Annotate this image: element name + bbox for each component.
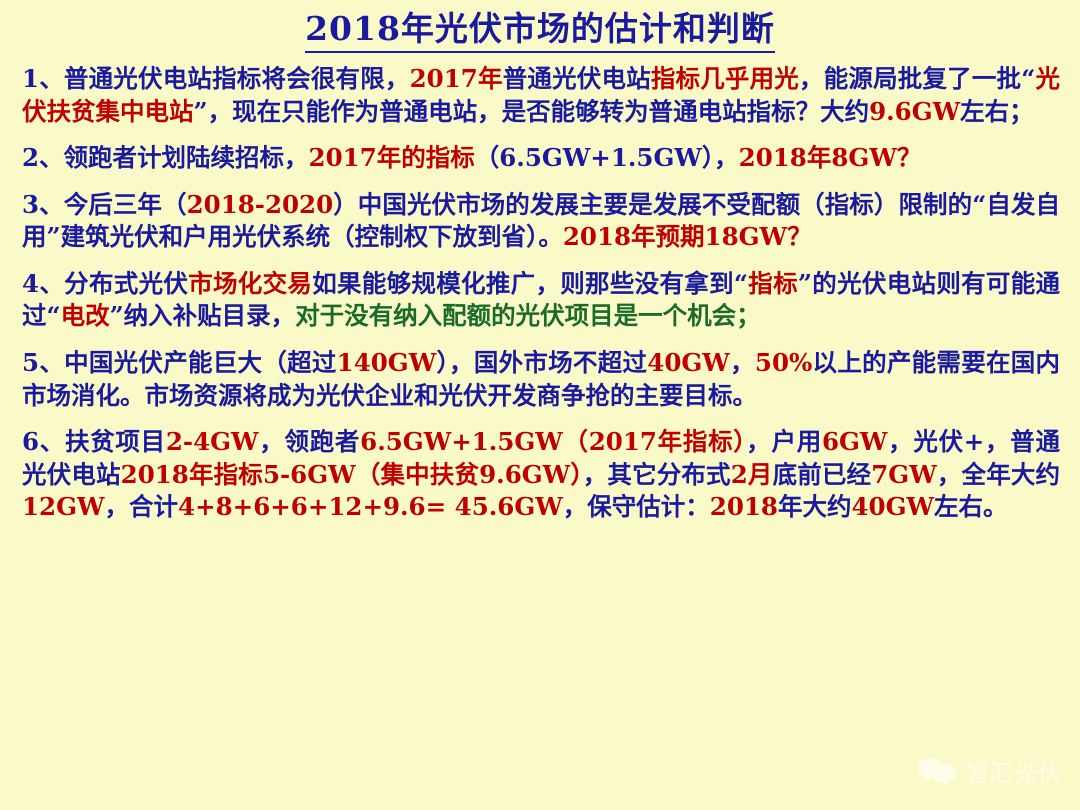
text-run: ， [730,348,755,377]
text-run: 2月 [731,460,773,489]
text-run: 年大约 [778,492,852,521]
page-title: 2018年光伏市场的估计和判断 [305,10,775,53]
text-run: 2018 [710,492,778,521]
text-run: 对于没有纳入配额的光伏项目是一个机会； [295,301,761,330]
text-run: 50% [755,348,812,377]
text-run: 指标 [748,269,798,298]
title-container: 2018年光伏市场的估计和判断 [14,6,1066,59]
text-run: ，其它分布式 [583,460,731,489]
text-run: ，合计 [105,492,179,521]
text-run: 5、中国光伏产能巨大（超过 [22,348,337,377]
bullet-paragraph-6: 6、扶贫项目2-4GW，领跑者6.5GW+1.5GW（2017年指标），户用6G… [22,426,1060,524]
text-run: 3、今后三年（ [22,190,187,219]
text-run: ，保守估计： [563,492,710,521]
text-run: ，领跑者 [259,427,361,456]
bullet-paragraph-2: 2、领跑者计划陆续招标，2017年的指标（6.5GW+1.5GW），2018年8… [22,142,1060,175]
text-run: ”纳入补贴目录， [110,301,296,330]
text-run: 2、领跑者计划陆续招标， [22,143,309,172]
wechat-icon [918,756,958,786]
text-run: 2-4GW [166,427,259,456]
text-run: 40GW [851,492,934,521]
text-run: 6、扶贫项目 [22,427,166,456]
text-run: 12GW [22,492,105,521]
bullet-paragraph-4: 4、分布式光伏市场化交易如果能够规模化推广，则那些没有拿到“指标”的光伏电站则有… [22,268,1060,333]
text-run: 指标几乎用光 [651,64,799,93]
text-run: ），国外市场不超过 [436,348,647,377]
text-run: 6.5GW+1.5GW（2017年指标） [360,427,746,456]
text-run: 9.6GW [869,97,960,126]
text-run: 电改 [61,301,110,330]
text-run: ，能源局批复了一批“ [799,64,1035,93]
text-run: 左右。 [934,492,1008,521]
slide-canvas: 2018年光伏市场的估计和判断 1、普通光伏电站指标将会很有限，2017年普通光… [0,0,1080,810]
text-run: 2018年预期18GW？ [563,222,812,251]
text-run: 2018年8GW？ [739,143,922,172]
text-run: 市场化交易 [188,269,312,298]
watermark-label: 智汇光伏 [966,754,1062,788]
text-run: （6.5GW+1.5GW）， [475,143,739,172]
text-run: 如果能够规模化推广，则那些没有拿到“ [312,269,748,298]
bullet-paragraph-5: 5、中国光伏产能巨大（超过140GW），国外市场不超过40GW，50%以上的产能… [22,347,1060,412]
text-run: ，户用 [746,427,822,456]
text-run: 2018年指标5-6GW（集中扶贫9.6GW） [121,460,583,489]
text-run: 6GW [822,427,888,456]
text-run: 2017年 [410,64,503,93]
text-run: 140GW [337,348,437,377]
text-run: 普通光伏电站 [503,64,651,93]
text-run: ”，现在只能作为普通电站，是否能够转为普通电站指标？大约 [194,97,870,126]
text-run: 2018-2020 [187,190,334,219]
text-run: 4、分布式光伏 [22,269,188,298]
text-run: 4+8+6+6+12+9.6= 45.6GW [178,492,563,521]
text-run: ，全年大约 [937,460,1060,489]
slide-body: 1、普通光伏电站指标将会很有限，2017年普通光伏电站指标几乎用光，能源局批复了… [14,59,1066,524]
text-run: 7GW [871,460,937,489]
text-run: 1、普通光伏电站指标将会很有限， [22,64,410,93]
watermark: 智汇光伏 [918,754,1062,788]
text-run: 2017年的指标 [309,143,475,172]
text-run: 左右； [960,97,1034,126]
bullet-paragraph-1: 1、普通光伏电站指标将会很有限，2017年普通光伏电站指标几乎用光，能源局批复了… [22,63,1060,128]
bullet-paragraph-3: 3、今后三年（2018-2020）中国光伏市场的发展主要是发展不受配额（指标）限… [22,189,1060,254]
text-run: 底前已经 [773,460,872,489]
text-run: 40GW [647,348,730,377]
